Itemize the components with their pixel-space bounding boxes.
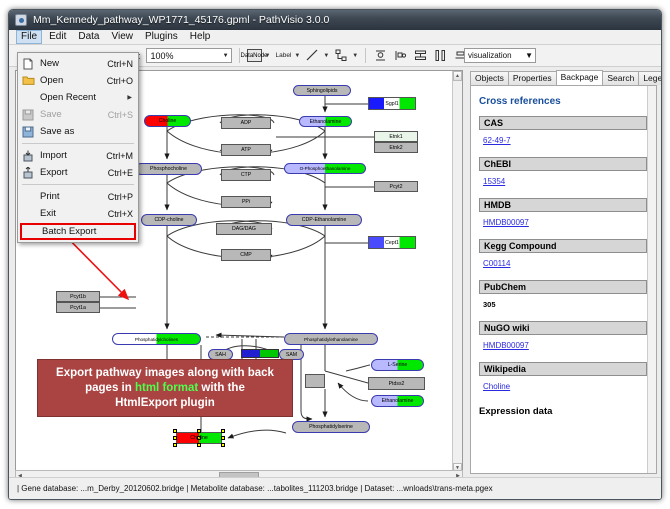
pathvisio-window: Mm_Kennedy_pathway_WP1771_45176.gpml - P… [8,9,662,500]
menu-item-accelerator: Ctrl+O [107,76,133,86]
import-icon [20,149,36,163]
xref-value-row: HMDB00097 [479,212,647,230]
xref-source-nugo-wiki: NuGO wiki [479,321,647,335]
pathway-node-cept1[interactable]: Cept1 [368,236,416,249]
pathway-node-label: Phosphocholine [150,166,187,172]
menu-item-accelerator: Ctrl+X [108,209,133,219]
align-left-icon[interactable] [393,48,408,63]
xref-value-hmdb[interactable]: HMDB00097 [483,218,529,227]
selection-handle[interactable] [221,429,225,433]
label-tool-icon[interactable]: Label [275,52,291,59]
pathway-node-cdpcholine[interactable]: CDP-choline [141,214,197,226]
zoom-combobox[interactable]: 100% ▼ [146,48,232,63]
align-top-icon[interactable] [373,48,388,63]
xref-source-hmdb: HMDB [479,198,647,212]
status-text: | Gene database: ...m_Derby_20120602.bri… [17,484,493,493]
selection-handle[interactable] [197,429,201,433]
xref-source-chebi: ChEBI [479,157,647,171]
pathway-node-label: CMP [240,252,252,258]
menu-file[interactable]: File [16,30,42,44]
pathway-node-label: CDP-Ethanolamine [302,217,346,223]
distribute-vertical-icon[interactable] [413,48,428,63]
pathway-node-label: Phosphatidylcholines [135,337,178,342]
menu-item-new[interactable]: NewCtrl+N [18,55,138,72]
pathway-node-ethanolamine1[interactable]: Ethanolamine [299,116,352,127]
selection-handle[interactable] [221,443,225,447]
expression-color-strip [241,349,279,358]
interaction-chevron-down-icon[interactable]: ▼ [352,53,358,59]
menu-item-accelerator: Ctrl+M [106,151,133,161]
chevron-down-icon: ▼ [223,53,229,59]
title-bar: Mm_Kennedy_pathway_WP1771_45176.gpml - P… [9,10,661,30]
menu-view[interactable]: View [106,30,138,44]
pathway-node-choline[interactable]: Choline [144,115,191,127]
pathway-node-phosphatidylethanolamine[interactable]: Phosphatidylethanolamine [284,333,378,345]
cross-references-heading: Cross references [479,96,647,107]
pathway-node-dagdag[interactable]: DAG/DAG [216,223,272,235]
toolbar-separator [239,48,240,63]
pathway-node-atp[interactable]: ATP [221,144,271,156]
xref-value-row: 305 [479,294,647,312]
visualization-value: visualization [468,51,512,60]
annotation-line2-a: pages in [85,382,135,394]
menu-item-accelerator: Ctrl+N [107,59,133,69]
pathway-node-label: Ethanolamine [382,398,414,404]
datanode-chevron-down-icon[interactable]: ▼ [265,53,271,59]
menu-item-accelerator: Ctrl+S [108,110,133,120]
no-icon [20,207,36,221]
pathway-node-label: Choline [159,118,177,124]
pathway-node-label: DAG/DAG [232,226,256,232]
menu-edit[interactable]: Edit [44,30,71,44]
cross-references-list: CAS62-49-7ChEBI15354HMDBHMDB00097Kegg Co… [479,116,647,394]
menu-item-label: Print [40,191,108,202]
menu-item-label: New [40,58,107,69]
pathway-node-ophosphoeth[interactable]: O-Phosphoethanolamine [284,163,366,174]
xref-source-pubchem: PubChem [479,280,647,294]
annotation-callout: Export pathway images along with back pa… [37,359,293,417]
menu-item-label: Export [40,167,108,178]
side-panel-tabs: Objects Properties Backpage Search Legen… [467,70,657,85]
visualization-combobox[interactable]: visualization ▼ [464,48,536,63]
pathway-node-label: Pcyt2 [390,184,403,190]
pathway-node-label: Sphingolipids [307,88,338,94]
pathway-node-label: CDP-choline [154,217,183,223]
pathway-node-pcyt1a[interactable]: Pcyt1a [56,302,100,313]
tab-legend[interactable]: Legend [638,71,662,85]
status-bar: | Gene database: ...m_Derby_20120602.bri… [9,477,661,499]
folder-open-icon [20,74,36,88]
tab-backpage[interactable]: Backpage [556,70,604,85]
pathway-anchor-box[interactable] [305,374,325,388]
pathway-node-label: Cept1 [385,240,399,246]
new-file-icon [20,57,36,71]
selection-handle[interactable] [173,436,177,440]
menu-item-label: Save as [40,126,138,137]
menu-help[interactable]: Help [185,30,216,44]
pathway-node-sphingolipids[interactable]: Sphingolipids [293,85,351,96]
annotation-line1: Export pathway images along with back [56,367,274,379]
menu-item-label: Open [40,75,107,86]
menu-item-save: SaveCtrl+S [18,106,138,123]
menu-item-save-as[interactable]: Save as [18,123,138,140]
annotation-line2-b: with the [198,382,245,394]
zoom-value: 100% [151,51,174,61]
label-chevron-down-icon[interactable]: ▼ [294,53,300,59]
pathway-node-cdpethanolamine[interactable]: CDP-Ethanolamine [286,214,362,226]
pathway-node-cmp[interactable]: CMP [221,249,271,261]
menu-item-open[interactable]: OpenCtrl+O [18,72,138,89]
pathway-node-label: ADP [241,120,252,126]
xref-value-wikipedia[interactable]: Choline [483,382,510,391]
expression-data-heading: Expression data [479,406,647,417]
pathway-node-phosphatidylcholines[interactable]: Phosphatidylcholines [112,333,201,345]
menu-item-export[interactable]: ExportCtrl+E [18,164,138,181]
xref-source-cas: CAS [479,116,647,130]
save-icon [20,108,36,122]
menu-separator [22,184,134,185]
visualization-chevron-down-icon: ▼ [525,51,533,60]
menu-item-label: Batch Export [22,226,134,237]
pathway-node-label: Ethanolamine [310,119,342,125]
xref-value-cas[interactable]: 62-49-7 [483,136,511,145]
tab-search[interactable]: Search [602,71,639,85]
datanode-icon[interactable]: DataNode [247,49,262,62]
xref-source-kegg-compound: Kegg Compound [479,239,647,253]
pathway-node-label: Sgpl1 [385,101,398,107]
no-icon [20,91,36,105]
pathway-node-label: Etnk2 [389,145,402,151]
menu-data[interactable]: Data [73,30,104,44]
canvas-vertical-scrollbar[interactable]: ▲ ▼ [452,71,462,473]
xref-value-nugo-wiki[interactable]: HMDB00097 [483,341,529,350]
interaction-tool-icon[interactable] [334,48,349,63]
scroll-up-icon[interactable]: ▲ [453,71,462,81]
distribute-horizontal-icon[interactable] [433,48,448,63]
pathway-node-phosphocholine[interactable]: Phosphocholine [135,163,202,175]
xref-value-kegg-compound[interactable]: C00114 [483,259,510,268]
annotation-highlight: html format [135,382,198,394]
pathway-node-ppi[interactable]: PPi [221,196,271,208]
menu-item-exit[interactable]: ExitCtrl+X [18,205,138,222]
save-as-icon [20,125,36,139]
pathway-node-pcyt1b[interactable]: Pcyt1b [56,291,100,302]
pathway-node-label: Choline [190,435,208,441]
xref-value-row: HMDB00097 [479,335,647,353]
menu-item-accelerator: Ctrl+P [108,192,133,202]
pathway-node-ptdss2[interactable]: Ptdss2 [368,377,425,390]
pathway-node-sgpl1[interactable]: Sgpl1 [368,97,416,110]
app-icon [15,14,27,26]
menu-item-import[interactable]: ImportCtrl+M [18,147,138,164]
side-panel: Objects Properties Backpage Search Legen… [467,70,657,474]
pathway-node-phosphatidylserine[interactable]: Phosphatidylserine [292,421,370,433]
pathway-node-label: SAM [286,352,297,358]
menu-item-batch-export[interactable]: Batch Export [20,223,136,240]
backpage-content: Cross references CAS62-49-7ChEBI15354HMD… [470,85,657,474]
xref-value-chebi[interactable]: 15354 [483,177,505,186]
no-icon [20,190,36,204]
menu-bar: File Edit Data View Plugins Help [9,30,661,45]
menu-item-print[interactable]: PrintCtrl+P [18,188,138,205]
xref-value-row: 15354 [479,171,647,189]
menu-plugins[interactable]: Plugins [140,30,183,44]
pathway-node-label: PPi [242,199,250,205]
menu-item-label: Save [40,109,108,120]
menu-item-label: Exit [40,208,108,219]
selection-handle[interactable] [221,436,225,440]
pathway-node-label: Phosphatidylethanolamine [304,337,358,342]
export-icon [20,166,36,180]
pathway-node-label: SAH [215,352,226,358]
pathway-node-label: CTP [241,172,251,178]
pathway-node-ethanolamine2[interactable]: Ethanolamine [371,395,424,407]
xref-value-row: C00114 [479,253,647,271]
file-menu-dropdown[interactable]: NewCtrl+NOpenCtrl+OOpen Recent▶SaveCtrl+… [17,52,139,243]
menu-item-accelerator: Ctrl+E [108,168,133,178]
panel-vertical-scrollbar[interactable] [647,86,656,473]
menu-separator [22,143,134,144]
pathway-node-etnk1[interactable]: Etnk1 [374,131,418,142]
toolbar-separator-2 [365,48,366,63]
menu-item-label: Import [40,150,106,161]
menu-item-label: Open Recent [40,92,127,103]
tab-properties[interactable]: Properties [508,71,557,85]
pathway-node-pcyt2[interactable]: Pcyt2 [374,181,418,192]
pathway-node-ctp[interactable]: CTP [221,169,271,181]
annotation-text: Export pathway images along with back pa… [50,366,280,411]
tab-objects[interactable]: Objects [470,71,509,85]
submenu-chevron-right-icon: ▶ [127,94,132,101]
pathway-node-label: Phosphatidylserine [309,424,353,430]
xref-value-pubchem: 305 [483,300,496,309]
pathway-node-label: ATP [241,147,251,153]
xref-source-wikipedia: Wikipedia [479,362,647,376]
annotation-line3: HtmlExport plugin [115,397,215,409]
line-chevron-down-icon[interactable]: ▼ [323,53,329,59]
pathway-node-label: Etnk1 [389,134,402,140]
pathway-node-adp[interactable]: ADP [221,117,271,129]
selection-handle[interactable] [197,443,201,447]
pathway-node-label: Pcyt1b [70,294,86,300]
pathway-node-lserine[interactable]: L-Serine [371,359,424,371]
selection-handle[interactable] [173,443,177,447]
xref-value-row: Choline [479,376,647,394]
menu-item-open-recent[interactable]: Open Recent▶ [18,89,138,106]
pathway-node-label: O-Phosphoethanolamine [300,166,351,171]
window-title: Mm_Kennedy_pathway_WP1771_45176.gpml - P… [33,14,329,26]
selection-handle[interactable] [173,429,177,433]
pathway-node-label: L-Serine [388,362,408,368]
pathway-node-label: Pcyt1a [70,305,86,311]
pathway-node-label: Ptdss2 [389,381,405,387]
xref-value-row: 62-49-7 [479,130,647,148]
line-tool-icon[interactable] [305,48,320,63]
pathway-node-etnk2[interactable]: Etnk2 [374,142,418,153]
